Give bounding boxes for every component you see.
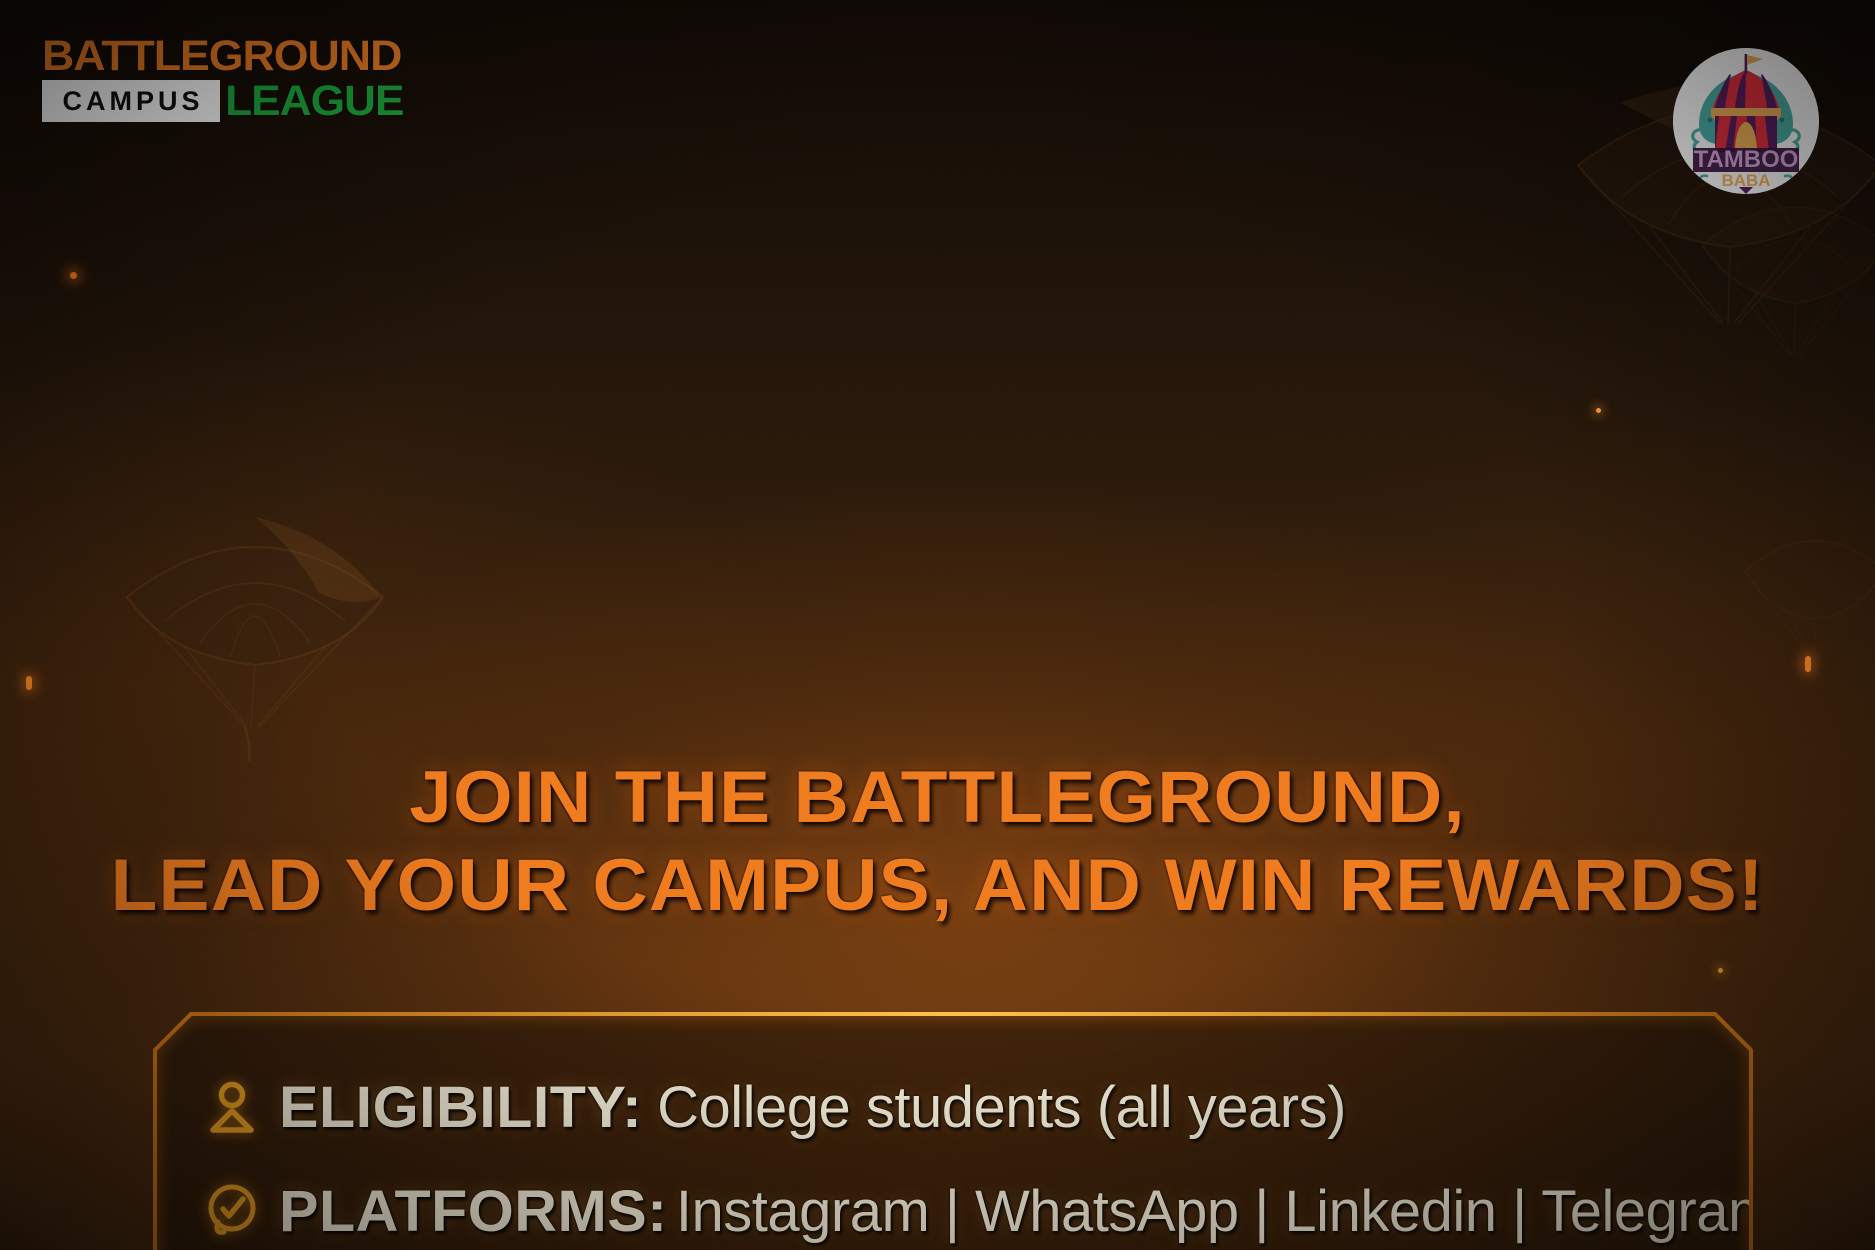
tagline-line-2: LEAD YOUR CAMPUS, AND WIN REWARDS! bbox=[0, 848, 1875, 924]
info-row-platforms: PLATFORMS: Instagram | WhatsApp | Linked… bbox=[201, 1168, 1753, 1250]
headline-line-ambassador: AMBASSADOR bbox=[0, 243, 1875, 475]
ember-speck bbox=[1718, 968, 1723, 973]
info-label-platforms: PLATFORMS: bbox=[279, 1178, 667, 1245]
person-icon bbox=[201, 1076, 263, 1138]
info-value-eligibility: College students (all years) bbox=[657, 1074, 1346, 1141]
headline-line-campus: CAMPUS bbox=[0, 26, 1875, 258]
headline-line-bgcl-2025: – BGCL 2025 bbox=[0, 452, 1875, 618]
poster-canvas: BATTLEGROUND CAMPUS LEAGUE bbox=[0, 0, 1875, 1250]
tagline-line-1: JOIN THE BATTLEGROUND, bbox=[0, 760, 1875, 836]
ember-speck bbox=[1805, 656, 1811, 672]
info-label-eligibility: ELIGIBILITY: bbox=[279, 1074, 642, 1141]
ember-speck bbox=[26, 676, 32, 690]
info-row-eligibility: ELIGIBILITY: College students (all years… bbox=[201, 1064, 1753, 1150]
info-panel: ELIGIBILITY: College students (all years… bbox=[153, 1012, 1753, 1250]
info-value-platforms: Instagram | WhatsApp | Linkedin | Telegr… bbox=[676, 1178, 1776, 1245]
chat-check-icon bbox=[201, 1180, 263, 1242]
